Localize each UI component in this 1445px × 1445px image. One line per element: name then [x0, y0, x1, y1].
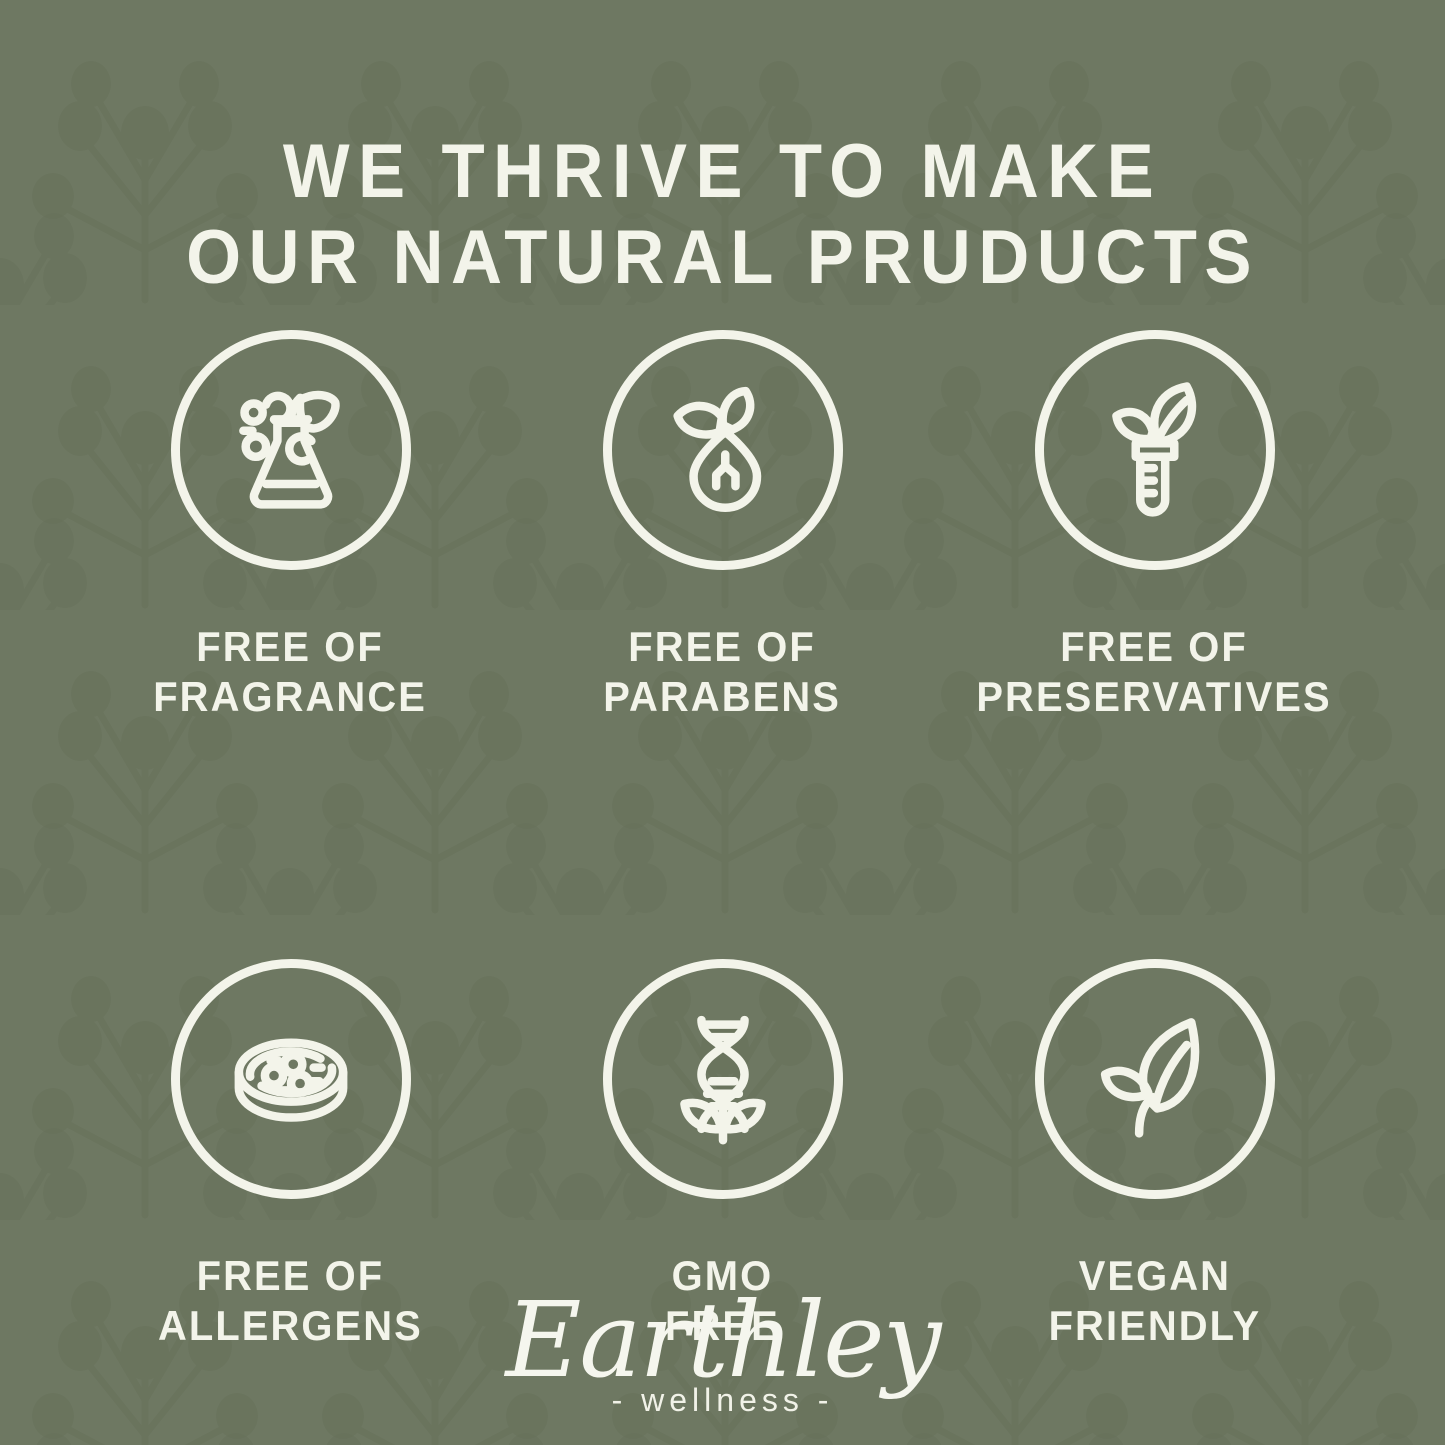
headline-line-1: WE THRIVE TO MAKE: [51, 129, 1395, 215]
badge-label-line-1: FREE OF: [604, 622, 842, 672]
headline-line-2: OUR NATURAL PRUDUCTS: [51, 215, 1395, 301]
badge-ring: [171, 959, 411, 1199]
brand-wordmark: Earthley: [0, 1288, 1445, 1392]
flask-leaf-bubbles-icon: [223, 382, 359, 518]
benefit-badge-grid: FREE OF FRAGRANCE: [0, 330, 1445, 1351]
brand-tagline: - wellness -: [0, 1382, 1445, 1419]
two-leaves-icon: [1087, 1011, 1223, 1147]
brand-logo: Earthley - wellness -: [0, 1288, 1445, 1419]
badge-ring: [171, 330, 411, 570]
promo-poster: WE THRIVE TO MAKE OUR NATURAL PRUDUCTS: [0, 0, 1445, 1445]
badge-label-line-2: FRAGRANCE: [154, 672, 428, 722]
dna-plant-icon: [655, 1011, 791, 1147]
test-tube-leaf-icon: [1087, 382, 1223, 518]
badge-row-1: FREE OF FRAGRANCE: [0, 330, 1445, 722]
badge-ring: [1035, 959, 1275, 1199]
badge-label-line-2: PRESERVATIVES: [977, 672, 1332, 722]
badge-free-of-fragrance: FREE OF FRAGRANCE: [75, 330, 507, 722]
badge-label-line-1: FREE OF: [977, 622, 1332, 672]
badge-label-line-1: FREE OF: [154, 622, 428, 672]
badge-free-of-parabens: FREE OF PARABENS: [507, 330, 939, 722]
badge-free-of-preservatives: FREE OF PRESERVATIVES: [939, 330, 1371, 722]
page-title: WE THRIVE TO MAKE OUR NATURAL PRUDUCTS: [51, 129, 1395, 301]
badge-label: FREE OF PARABENS: [604, 622, 842, 722]
badge-ring: [1035, 330, 1275, 570]
badge-ring: [603, 959, 843, 1199]
petri-dish-bacteria-icon: [223, 1011, 359, 1147]
badge-label: FREE OF FRAGRANCE: [154, 622, 428, 722]
badge-ring: [603, 330, 843, 570]
badge-label-line-2: PARABENS: [604, 672, 842, 722]
badge-label: FREE OF PRESERVATIVES: [977, 622, 1332, 722]
leaf-droplet-chemical-icon: [655, 382, 791, 518]
